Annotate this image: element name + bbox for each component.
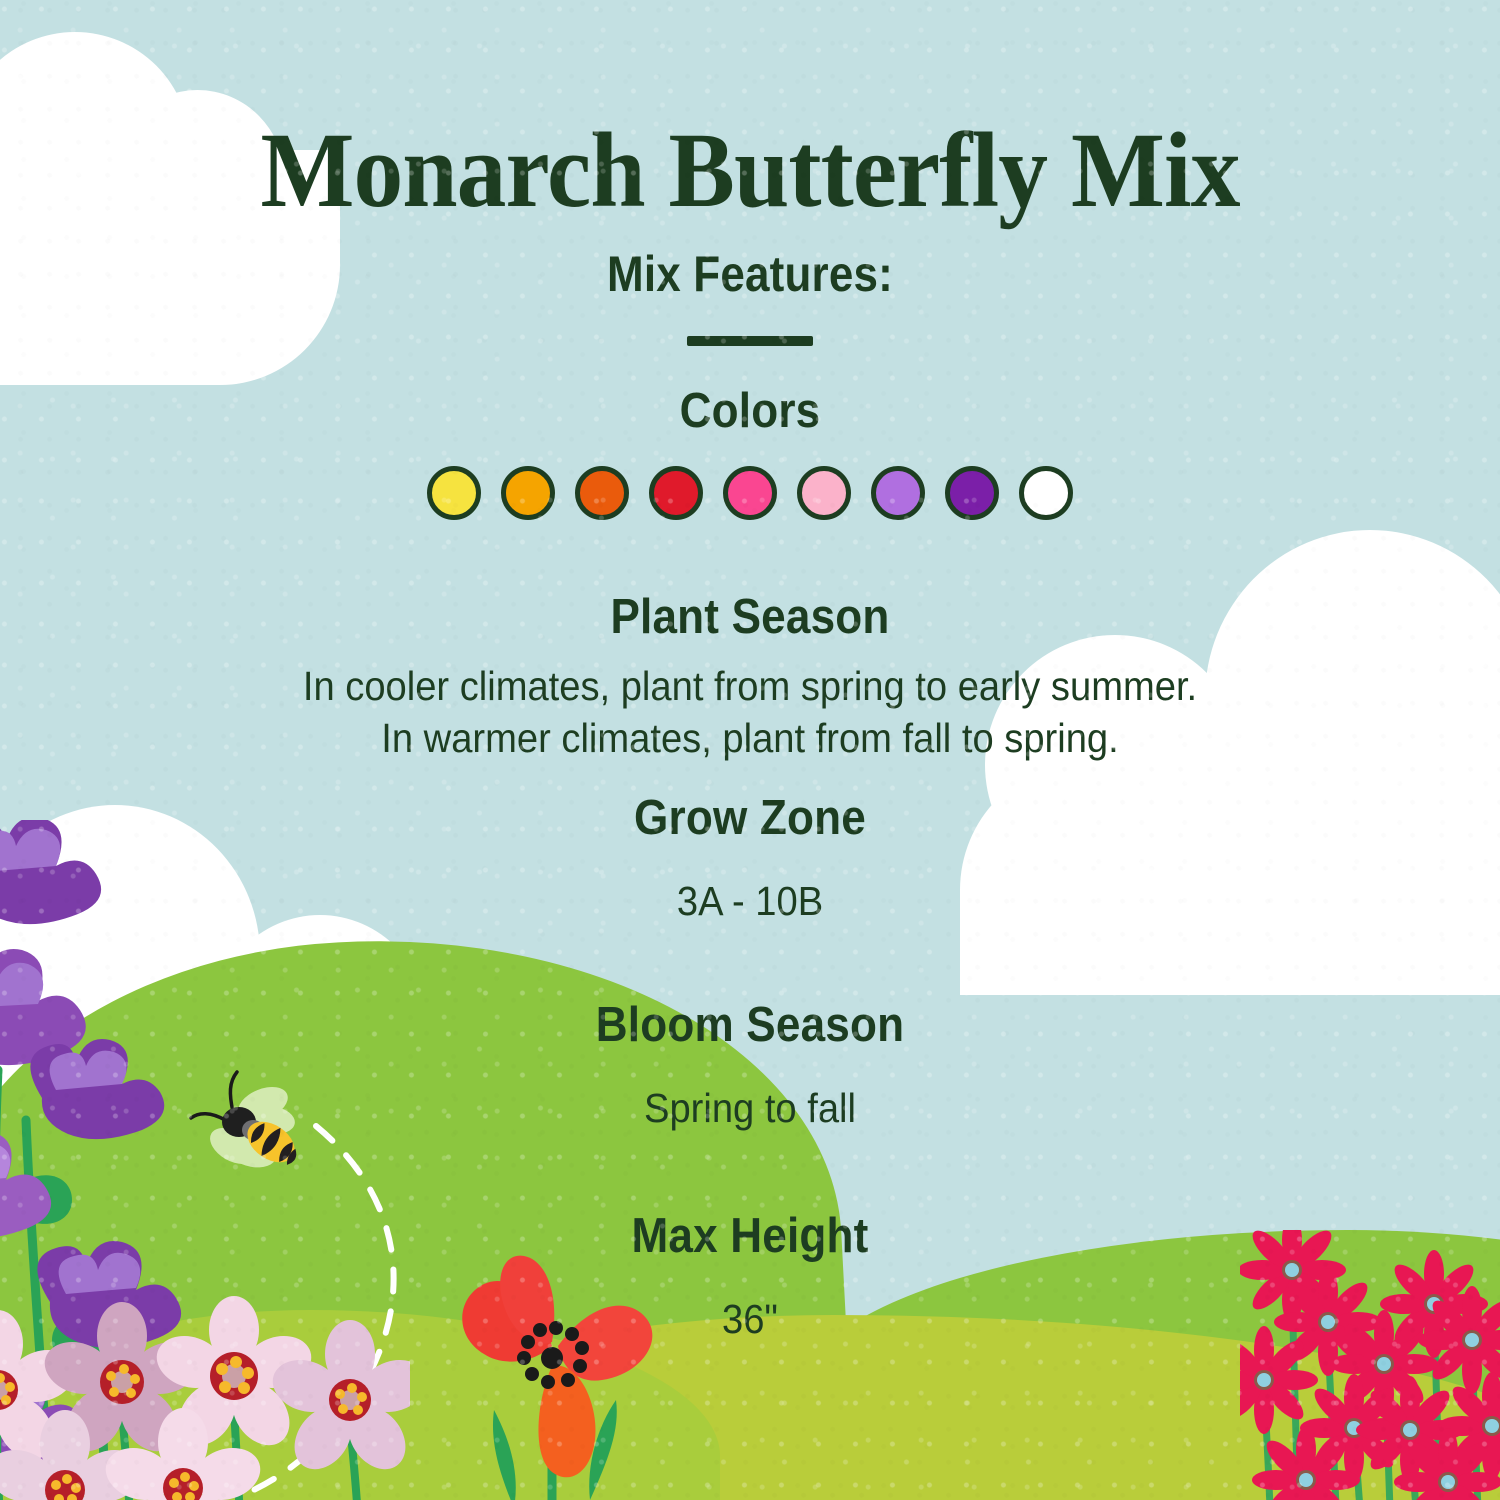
color-swatch-hot-pink xyxy=(723,466,777,520)
seed-packet-poster: Monarch Butterfly Mix Mix Features: Colo… xyxy=(0,0,1500,1500)
color-swatch-light-pink xyxy=(797,466,851,520)
section-heading-bloom-season: Bloom Season xyxy=(75,997,1425,1053)
section-body-plant-season: In cooler climates, plant from spring to… xyxy=(53,660,1448,765)
section-heading-plant-season: Plant Season xyxy=(75,589,1425,645)
plant-season-line-2: In warmer climates, plant from fall to s… xyxy=(53,712,1448,764)
page-title: Monarch Butterfly Mix xyxy=(53,118,1448,225)
section-body-max-height: 36" xyxy=(53,1293,1448,1345)
section-heading-colors: Colors xyxy=(75,383,1425,439)
section-heading-grow-zone: Grow Zone xyxy=(75,790,1425,846)
section-body-grow-zone: 3A - 10B xyxy=(53,875,1448,927)
color-swatch-white xyxy=(1019,466,1073,520)
color-swatch-yellow xyxy=(427,466,481,520)
color-swatch-red xyxy=(649,466,703,520)
color-swatch-orange xyxy=(575,466,629,520)
plant-season-line-1: In cooler climates, plant from spring to… xyxy=(53,660,1448,712)
divider-rule xyxy=(687,336,813,346)
color-swatch-amber xyxy=(501,466,555,520)
color-swatch-row xyxy=(0,466,1500,520)
color-swatch-purple xyxy=(945,466,999,520)
color-swatch-light-purple xyxy=(871,466,925,520)
subtitle: Mix Features: xyxy=(90,245,1410,303)
section-heading-max-height: Max Height xyxy=(75,1208,1425,1264)
section-body-bloom-season: Spring to fall xyxy=(53,1082,1448,1134)
